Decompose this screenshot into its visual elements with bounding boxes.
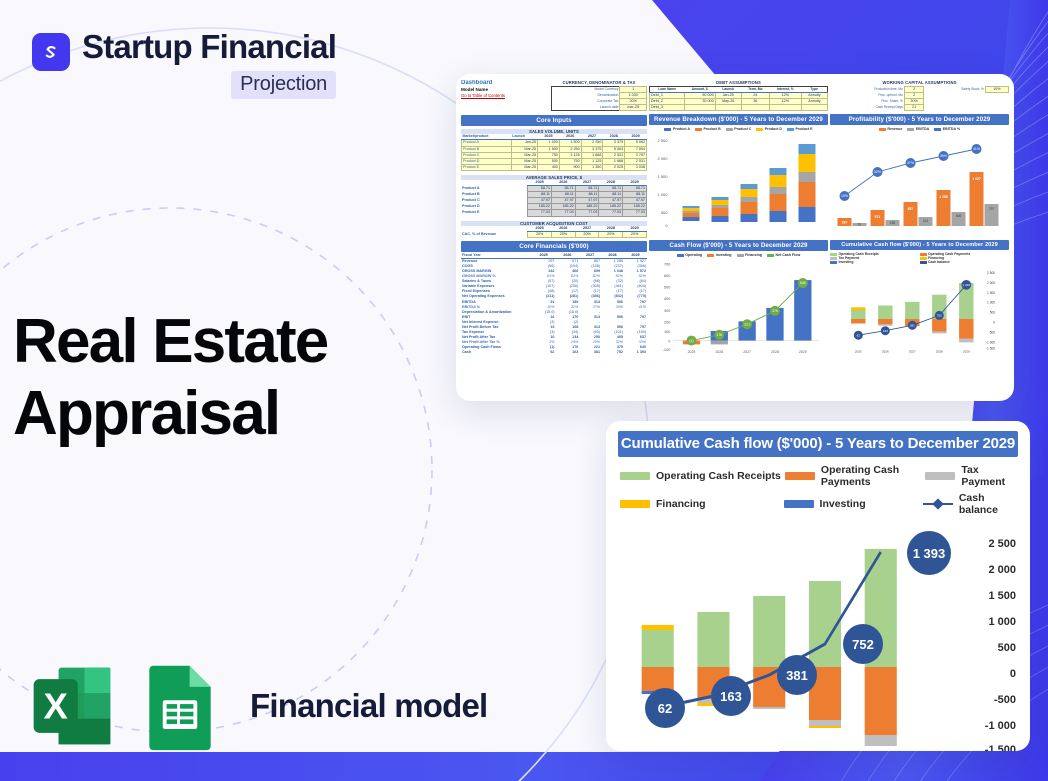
legend-item: Product D	[756, 127, 782, 131]
svg-text:297: 297	[842, 221, 848, 225]
svg-text:2 500: 2 500	[657, 138, 668, 143]
page-title-line-2: Appraisal	[13, 378, 327, 450]
svg-text:1 000: 1 000	[987, 301, 995, 305]
table-row: Product EMar-254009001 3502 0253 038	[462, 164, 647, 170]
svg-text:1 000: 1 000	[657, 192, 668, 197]
svg-text:1 927: 1 927	[972, 177, 981, 181]
y-tick: 1 000	[988, 616, 1016, 628]
svg-text:2 500: 2 500	[987, 271, 995, 275]
legend-item-tax-payment: Tax Payment	[925, 464, 1016, 488]
svg-text:500: 500	[990, 311, 996, 315]
svg-text:500: 500	[661, 210, 668, 215]
data-bubble-2028: 752	[843, 624, 883, 664]
svg-text:2028: 2028	[936, 350, 943, 354]
svg-text:571: 571	[875, 215, 881, 219]
svg-text:41%: 41%	[973, 148, 980, 152]
brand-subtitle: Projection	[231, 71, 336, 99]
legend-item: Revenue	[879, 127, 902, 131]
y-tick: 500	[998, 642, 1016, 654]
cash-flow-legend: Operating Investing Financing Net Cash F…	[649, 253, 828, 257]
cumulative-cash-flow-mini-chart: 2 5002 0001 500 1 0005000 -500-1 000-1 5…	[830, 265, 1009, 355]
svg-text:1 393: 1 393	[962, 283, 970, 287]
y-tick: -1 500	[985, 744, 1016, 751]
svg-text:221: 221	[744, 323, 750, 327]
legend-item-financing: Financing	[620, 492, 784, 516]
svg-text:752: 752	[937, 314, 942, 318]
legend-item: Financing	[737, 253, 762, 257]
currency-table[interactable]: Model Currency1 Denomination1 000 Corpor…	[551, 86, 647, 111]
core-inputs-band: Core Inputs	[461, 115, 647, 126]
svg-text:375: 375	[772, 309, 778, 313]
table-row[interactable]: Cash621633817521 393	[461, 350, 647, 355]
svg-text:2028: 2028	[771, 350, 779, 354]
dashboard-preview-card[interactable]: Dashboard Model Name Go to Table of Cont…	[456, 74, 1014, 401]
legend-item: Investing	[830, 260, 920, 264]
legend-item-operating-cash-receipts: Operating Cash Receipts	[620, 464, 785, 488]
svg-text:185: 185	[890, 221, 896, 225]
svg-text:10%: 10%	[841, 195, 848, 199]
svg-text:-1 500: -1 500	[986, 347, 995, 351]
svg-text:797: 797	[989, 207, 995, 211]
svg-text:500: 500	[664, 286, 670, 290]
svg-text:400: 400	[664, 298, 670, 302]
legend-line-marker	[923, 500, 953, 508]
svg-text:2 000: 2 000	[987, 281, 995, 285]
svg-text:2027: 2027	[909, 350, 916, 354]
cumulative-cash-flow-legend: Operating Cash Receipts Operating Cash P…	[830, 252, 1009, 264]
svg-text:2026: 2026	[715, 350, 723, 354]
svg-text:600: 600	[664, 275, 670, 279]
svg-text:313: 313	[923, 219, 929, 223]
legend-item-operating-cash-payments: Operating Cash Payments	[785, 464, 925, 488]
legend-item: Operating	[677, 253, 702, 257]
legend-swatch	[784, 500, 814, 508]
microsoft-excel-icon: X	[26, 660, 118, 752]
legend-swatch	[620, 472, 650, 480]
svg-text:0: 0	[668, 340, 670, 344]
model-name-label: Model Name	[461, 87, 551, 92]
page-title: Real Estate Appraisal	[13, 306, 327, 450]
y-axis-labels: 2 500 2 000 1 500 1 000 500 0 -500 -1 00…	[966, 522, 1018, 751]
svg-text:-100: -100	[663, 348, 671, 352]
legend-item: EBITDA %	[934, 127, 960, 131]
brand-title: Startup Financial	[82, 28, 336, 66]
data-bubble-2025: 62	[645, 688, 685, 728]
svg-text:2025: 2025	[688, 350, 696, 354]
revenue-breakdown-legend: Product A Product B Product C Product D …	[649, 127, 828, 131]
profitability-chart: 10%32%37%39%41% 2975718571 2851 927 3118…	[830, 132, 1009, 232]
legend-item: EBITDA	[907, 127, 929, 131]
svg-text:1 500: 1 500	[987, 291, 995, 295]
y-tick: 2 000	[988, 564, 1016, 576]
svg-text:39%: 39%	[940, 155, 947, 159]
row-value: 62	[532, 350, 556, 355]
core-financials-table[interactable]: Fiscal Year 2025 2026 2027 2028 2029 Rev…	[461, 253, 647, 356]
legend-item: Product B	[695, 127, 721, 131]
svg-text:(1): (1)	[689, 339, 693, 343]
revenue-breakdown-chart: 2 500 2 000 1 500 1 000 500 0	[649, 132, 828, 232]
y-tick: -1 000	[985, 720, 1016, 732]
table-row: Debt_3	[650, 105, 828, 111]
wc-block-title: WORKING CAPITAL ASSUMPTIONS	[830, 80, 1009, 85]
svg-text:300: 300	[664, 309, 670, 313]
svg-text:37%: 37%	[907, 162, 914, 166]
table-row: Product E77.0377.0377.0377.0377.03	[461, 210, 647, 216]
svg-text:163: 163	[883, 329, 888, 333]
cashflow-chart-plot: 62 163 381 752 1 393 2 500 2 000 1 500 1…	[618, 522, 1018, 751]
cac-table[interactable]: 2025 2026 2027 2028 2029 CAC, % of Reven…	[461, 226, 647, 238]
dashboard-right-column: WORKING CAPITAL ASSUMPTIONS Production t…	[830, 80, 1009, 395]
svg-text:200: 200	[664, 321, 670, 325]
data-bubble-2029: 1 393	[907, 531, 951, 575]
svg-text:2029: 2029	[799, 350, 807, 354]
core-financials-band: Core Financials ($'000)	[461, 241, 647, 252]
svg-text:2025: 2025	[855, 350, 862, 354]
legend-item-investing: Investing	[784, 492, 923, 516]
currency-block-title: CURRENCY, DENOMINATOR & TAX	[551, 80, 647, 85]
svg-text:2027: 2027	[743, 350, 751, 354]
y-tick: -500	[994, 694, 1016, 706]
legend-item: Net Cash Flow	[767, 253, 800, 257]
svg-text:2029: 2029	[963, 350, 970, 354]
table-row: CAC, % of Revenue20%20%20%20%20%	[461, 231, 647, 237]
toc-link[interactable]: Go to Table of Contents	[461, 93, 551, 98]
svg-text:1 285: 1 285	[939, 195, 948, 199]
svg-text:-500: -500	[989, 331, 996, 335]
debt-block-title: DEBT ASSUMPTIONS	[649, 80, 828, 85]
sales-volume-table[interactable]: Market/product Launch 2025 2026 2027 202…	[461, 134, 647, 171]
brand-header: Startup Financial Projection	[32, 28, 336, 99]
table-row[interactable]: Net Operating Expenses(211)(281)(386)(54…	[461, 294, 647, 299]
legend-item: Product A	[664, 127, 690, 131]
dashboard-left-column: Dashboard Model Name Go to Table of Cont…	[461, 80, 647, 395]
svg-text:2026: 2026	[882, 350, 889, 354]
svg-text:-1 000: -1 000	[986, 341, 995, 345]
cash-flow-chart: 700 600 500 400 300 200 100 0 -100	[649, 258, 828, 354]
svg-text:176: 176	[716, 333, 722, 337]
row-label: Cash	[461, 350, 532, 355]
debt-assumptions-table[interactable]: Loan Name Amount, $ Launch Term, Mo Inte…	[649, 86, 828, 111]
profitability-chart-title: Profitability ($'000) - 5 Years to Decem…	[830, 114, 1009, 125]
svg-text:506: 506	[956, 214, 962, 218]
working-capital-table[interactable]: Production time, Mo2Safety Stock, %10% P…	[830, 86, 1009, 111]
poster-canvas: Startup Financial Projection Real Estate…	[0, 0, 1048, 781]
svg-text:857: 857	[908, 207, 914, 211]
svg-text:640: 640	[800, 282, 806, 286]
svg-text:1 500: 1 500	[657, 174, 668, 179]
svg-text:62: 62	[857, 334, 861, 338]
legend-swatch	[785, 472, 815, 480]
core-financials-rows: Revenue2975718571 2851 927COGS(56)(104)(…	[461, 258, 647, 355]
revenue-breakdown-chart-title: Revenue Breakdown ($'000) - 5 Years to D…	[649, 114, 828, 125]
legend-swatch	[925, 472, 955, 480]
y-tick: 0	[1010, 668, 1016, 680]
dashboard-middle-column: DEBT ASSUMPTIONS Loan Name Amount, $ Lau…	[649, 80, 828, 395]
svg-text:32%: 32%	[874, 171, 881, 175]
row-value: 1 393	[624, 350, 647, 355]
row-value: 163	[555, 350, 579, 355]
svg-text:31: 31	[858, 223, 862, 227]
cashflow-chart-card[interactable]: Cumulative Cash flow ($'000) - 5 Years t…	[606, 421, 1030, 751]
currency-rows: Model Currency1 Denomination1 000 Corpor…	[552, 87, 647, 111]
svg-text:381: 381	[910, 324, 915, 328]
svg-text:0: 0	[665, 223, 668, 228]
bar-group-2027	[753, 596, 785, 709]
legend-item: Product E	[787, 127, 812, 131]
cumulative-cash-flow-chart-title: Cumulative Cash flow ($'000) - 5 Years t…	[830, 240, 1009, 250]
svg-text:2 000: 2 000	[657, 156, 668, 161]
cashflow-chart-title: Cumulative Cash flow ($'000) - 5 Years t…	[618, 431, 1018, 457]
svg-text:X: X	[44, 685, 68, 726]
legend-item-cash-balance: Cash balance	[923, 492, 1016, 516]
svg-text:700: 700	[664, 263, 670, 267]
data-bubble-2027: 381	[777, 655, 817, 695]
page-title-line-1: Real Estate	[13, 306, 327, 378]
row-value: 752	[601, 350, 624, 355]
legend-swatch	[620, 500, 650, 508]
bar-group-2025	[642, 625, 674, 694]
bar-group-2028	[809, 581, 841, 728]
legend-item: Investing	[707, 253, 731, 257]
svg-text:0: 0	[993, 321, 995, 325]
cashflow-chart-legend: Operating Cash Receipts Operating Cash P…	[620, 464, 1016, 516]
table-row: Cash Receipt Days21	[830, 105, 1009, 111]
table-row: Launch datemar-25	[552, 105, 647, 111]
svg-text:100: 100	[664, 330, 670, 334]
row-value: 381	[579, 350, 601, 355]
footer-label: Financial model	[250, 687, 487, 725]
legend-item: Cash balance	[920, 260, 1010, 264]
footer-badges: X Financial model	[26, 660, 487, 752]
data-bubble-2026: 163	[711, 676, 751, 716]
cash-flow-chart-title: Cash Flow ($'000) - 5 Years to December …	[649, 240, 828, 251]
brand-logo-icon	[32, 33, 70, 71]
average-price-table[interactable]: 2025 2026 2027 2028 2029 Product A58.715…	[461, 180, 647, 217]
y-tick: 2 500	[988, 538, 1016, 550]
google-sheets-icon	[134, 660, 226, 752]
dashboard-title: Dashboard	[461, 80, 551, 86]
y-tick: 1 500	[988, 590, 1016, 602]
legend-item: Product C	[726, 127, 752, 131]
profitability-legend: Revenue EBITDA EBITDA %	[830, 127, 1009, 131]
